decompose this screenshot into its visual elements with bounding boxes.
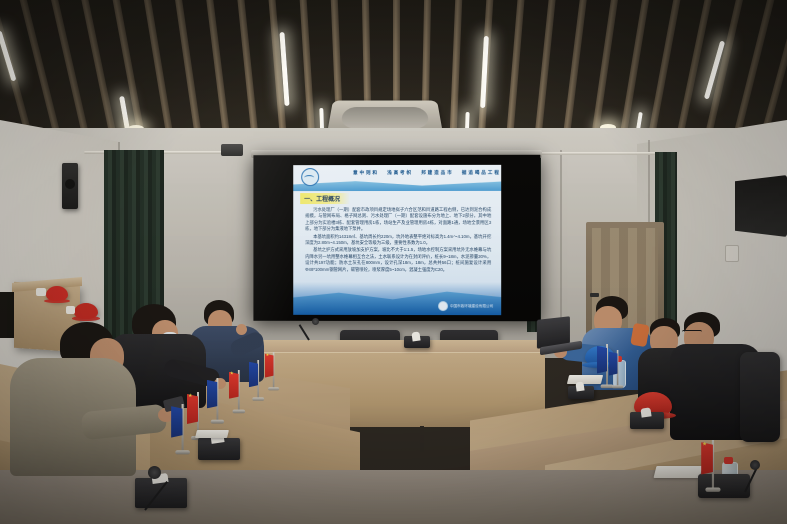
slide-slogan: 意 中 则 和 浅 高 考 帜 邦 建 造 品 市 据 追 喝 品 工 程 bbox=[353, 170, 499, 176]
slogan-seg: 邦 建 造 品 市 bbox=[421, 170, 452, 176]
slogan-seg: 意 中 则 和 bbox=[353, 170, 377, 176]
wood-slat-ceiling bbox=[0, 0, 787, 148]
slide-paragraph: 污水处理厂（一期）配套市政项目规定场地拟子六合区范和目道路工程右侧，已达到泥合构… bbox=[305, 207, 491, 233]
slide-body-text: 污水处理厂（一期）配套市政项目规定场地拟子六合区范和目道路工程右侧，已达到泥合构… bbox=[305, 207, 491, 274]
hand bbox=[236, 324, 247, 335]
ceiling-projector-icon bbox=[221, 144, 243, 156]
wall-speaker-icon bbox=[62, 163, 78, 209]
document-stack bbox=[195, 430, 229, 438]
slide-paragraph: 基坑之护方式采用放坡加支护方案，坡比不大于1:1.5，场地水控制方案采用坑外无水… bbox=[305, 247, 491, 273]
slide-footer: 中国市政环境建设有限公司 bbox=[438, 301, 493, 311]
document-stack bbox=[654, 466, 703, 478]
floor bbox=[0, 470, 787, 524]
footer-company-name: 中国市政环境建设有限公司 bbox=[450, 304, 493, 309]
company-logo-icon bbox=[301, 168, 319, 186]
tissue-box bbox=[198, 438, 240, 460]
slide-paragraph: 本基坑面积约14318㎡、基坑周长约220m，坑外地表整平绝对标高为1.4m～4… bbox=[305, 234, 491, 247]
footer-logo-icon bbox=[438, 301, 448, 311]
red-helmet-podium bbox=[74, 303, 98, 319]
curtain-rod bbox=[530, 152, 670, 155]
bottle-cap bbox=[724, 457, 733, 464]
tissue-box bbox=[568, 386, 594, 399]
table-leg bbox=[420, 426, 424, 452]
slogan-seg: 浅 高 考 帜 bbox=[387, 170, 411, 176]
slide-header: 意 中 则 和 浅 高 考 帜 邦 建 造 品 市 据 追 喝 品 工 程 bbox=[293, 165, 501, 190]
presentation-slide: 意 中 则 和 浅 高 考 帜 邦 建 造 品 市 据 追 喝 品 工 程 一、… bbox=[293, 165, 501, 315]
glasses-icon bbox=[682, 330, 702, 337]
paper-cup bbox=[36, 288, 46, 296]
projection-screen: 意 中 则 和 浅 高 考 帜 邦 建 造 品 市 据 追 喝 品 工 程 一、… bbox=[253, 155, 540, 321]
conference-room-photo: 意 中 则 和 浅 高 考 帜 邦 建 造 品 市 据 追 喝 品 工 程 一、… bbox=[0, 0, 787, 524]
tissue-box bbox=[404, 336, 430, 348]
paper-cup bbox=[66, 306, 75, 314]
wall-display-right bbox=[735, 175, 787, 237]
tissue-box bbox=[135, 478, 187, 508]
door-handle-icon[interactable] bbox=[590, 293, 599, 297]
slide-section-title: 一、工程概况 bbox=[300, 193, 350, 204]
light-switch-icon[interactable] bbox=[725, 245, 739, 262]
tissue-box bbox=[630, 412, 664, 429]
office-chair-right[interactable] bbox=[740, 352, 780, 442]
red-helmet-podium bbox=[46, 286, 68, 301]
slogan-seg: 据 追 喝 品 工 程 bbox=[462, 170, 499, 176]
document-stack bbox=[567, 375, 603, 384]
